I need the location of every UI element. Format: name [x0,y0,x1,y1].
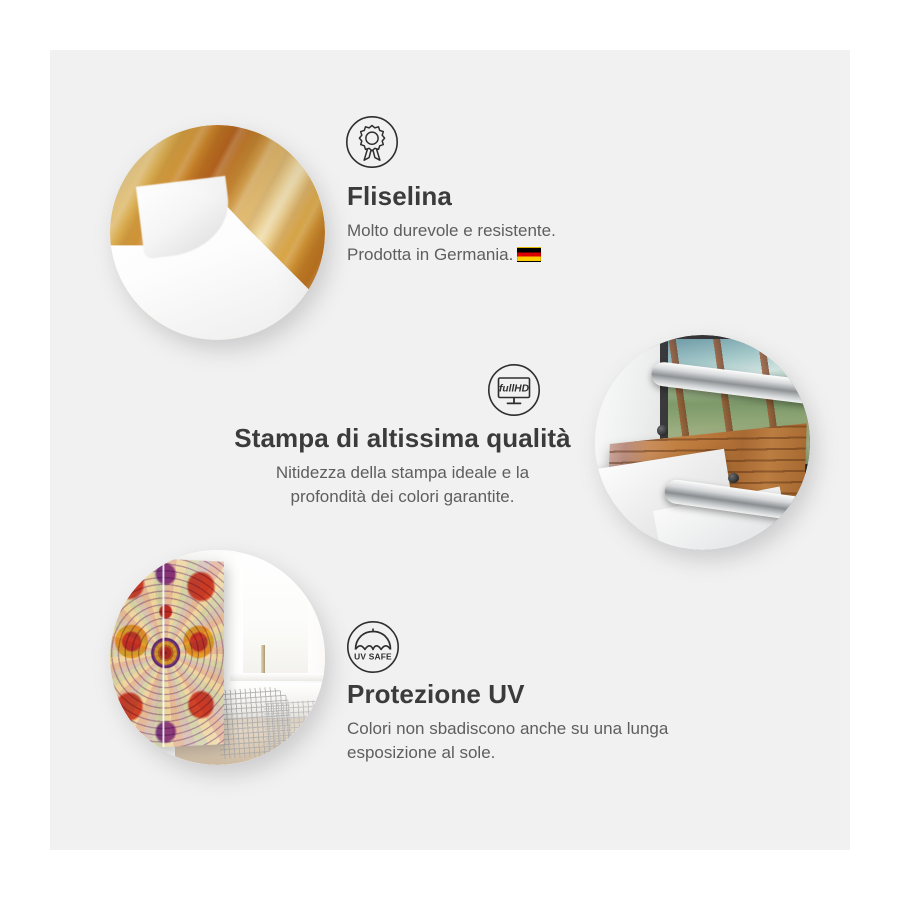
mandala-canvas [110,556,223,750]
product-feature-infographic: Fliselina Molto durevole e resistente. P… [0,0,900,900]
uv-safe-umbrella-icon: UV SAFE [346,620,400,674]
mandala-detail-dots [110,556,223,750]
print-quality-description-line-1: Nitidezza della stampa ideale e la [230,461,575,485]
fullhd-monitor-icon: fullHD [487,363,541,417]
uv-protection-text-block: Protezione UV Colori non sbadiscono anch… [347,680,668,765]
mandala-wall-art-interior-photo [110,550,325,765]
svg-text:UV SAFE: UV SAFE [354,652,392,662]
fliselina-description-line-2: Prodotta in Germania. [347,243,556,267]
peeling-fleece-wallpaper-photo [110,125,325,340]
svg-text:fullHD: fullHD [499,384,530,395]
large-format-printer-photo [595,335,810,550]
uv-protection-description-line-1: Colori non sbadiscono anche su una lunga [347,717,668,741]
fliselina-text-block: Fliselina Molto durevole e resistente. P… [347,182,556,267]
print-quality-description: Nitidezza della stampa ideale e la profo… [230,461,575,509]
german-flag-icon [517,247,541,262]
content-panel: Fliselina Molto durevole e resistente. P… [50,50,850,850]
print-quality-text-block: Stampa di altissima qualità Nitidezza de… [230,424,575,509]
uv-protection-title: Protezione UV [347,680,668,710]
print-quality-title: Stampa di altissima qualità [230,424,575,454]
uv-protection-description-line-2: esposizione al sole. [347,741,668,765]
wallpaper-vignette [110,125,325,340]
fliselina-description: Molto durevole e resistente. Prodotta in… [347,219,556,267]
fliselina-description-line-1: Molto durevole e resistente. [347,219,556,243]
uv-protection-description: Colori non sbadiscono anche su una lunga… [347,717,668,765]
interior-window-sill [230,673,325,682]
interior-wire-chair-back [263,699,325,758]
interior-window [243,554,308,679]
mandala-panel-divider [162,559,164,747]
award-ribbon-icon [345,115,399,169]
print-quality-description-line-2: profondità dei colori garantite. [230,485,575,509]
fliselina-description-line-2-text: Prodotta in Germania. [347,245,513,264]
fliselina-title: Fliselina [347,182,556,212]
